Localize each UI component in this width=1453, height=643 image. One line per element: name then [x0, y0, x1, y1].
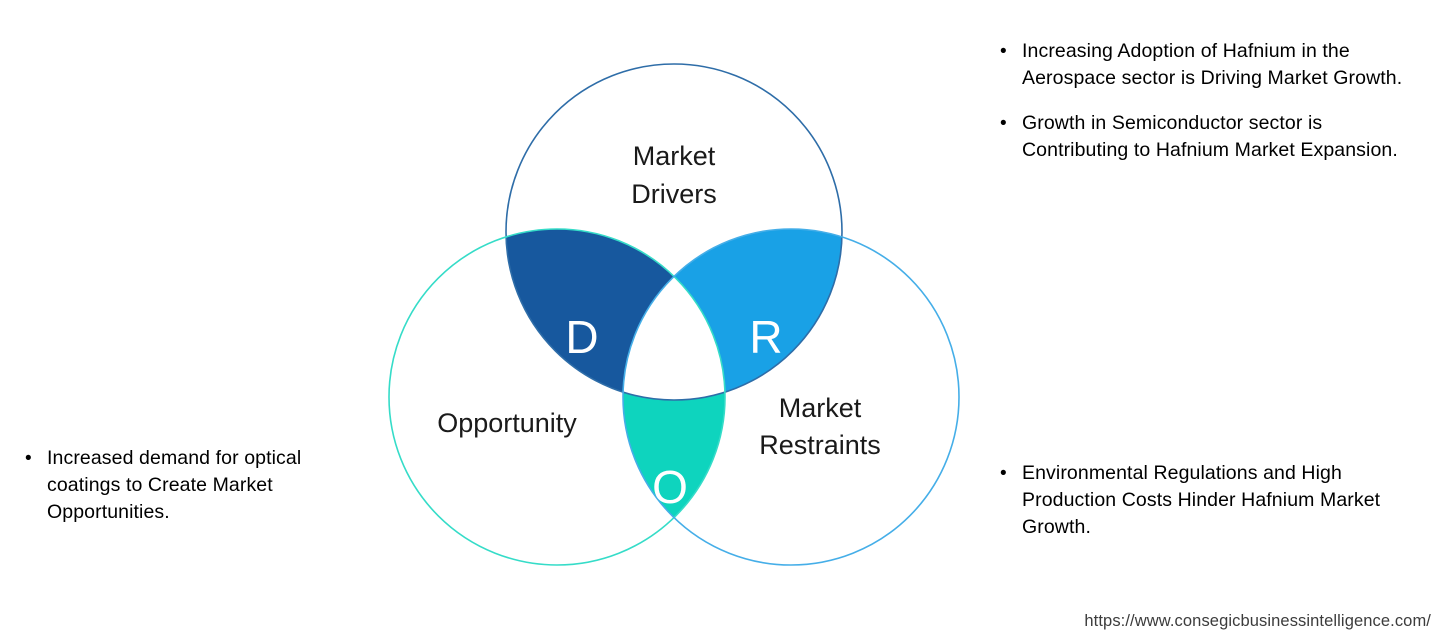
- list-item: • Environmental Regulations and High Pro…: [1000, 460, 1425, 541]
- venn-diagram: Market Drivers Opportunity Market Restra…: [370, 40, 980, 590]
- letter-opportunity: O: [652, 461, 688, 513]
- label-market-drivers-line2: Drivers: [631, 179, 717, 209]
- venn-diagram-svg: Market Drivers Opportunity Market Restra…: [370, 40, 980, 590]
- bullet-marker-icon: •: [25, 445, 47, 472]
- bullet-marker-icon: •: [1000, 460, 1022, 487]
- letter-drivers: D: [565, 311, 598, 363]
- bullet-list-opportunity: • Increased demand for optical coatings …: [25, 445, 370, 526]
- list-item: • Increased demand for optical coatings …: [25, 445, 370, 526]
- bullet-text: Increasing Adoption of Hafnium in the Ae…: [1022, 38, 1420, 92]
- list-item: • Increasing Adoption of Hafnium in the …: [1000, 38, 1420, 92]
- label-market-restraints-line2: Restraints: [759, 430, 881, 460]
- bullet-marker-icon: •: [1000, 38, 1022, 65]
- bullet-list-market-drivers: • Increasing Adoption of Hafnium in the …: [1000, 38, 1420, 164]
- bullet-list-market-restraints: • Environmental Regulations and High Pro…: [1000, 460, 1425, 541]
- bullet-text: Increased demand for optical coatings to…: [47, 445, 370, 526]
- list-item: • Growth in Semiconductor sector is Cont…: [1000, 110, 1420, 164]
- bullet-marker-icon: •: [1000, 110, 1022, 137]
- label-market-restraints-line1: Market: [779, 393, 862, 423]
- bullet-text: Environmental Regulations and High Produ…: [1022, 460, 1425, 541]
- label-opportunity: Opportunity: [437, 408, 577, 438]
- bullet-text: Growth in Semiconductor sector is Contri…: [1022, 110, 1420, 164]
- venn-infographic-page: Market Drivers Opportunity Market Restra…: [0, 0, 1453, 643]
- letter-restraints: R: [749, 311, 782, 363]
- source-url-link[interactable]: https://www.consegicbusinessintelligence…: [1084, 612, 1431, 631]
- label-market-drivers-line1: Market: [633, 141, 716, 171]
